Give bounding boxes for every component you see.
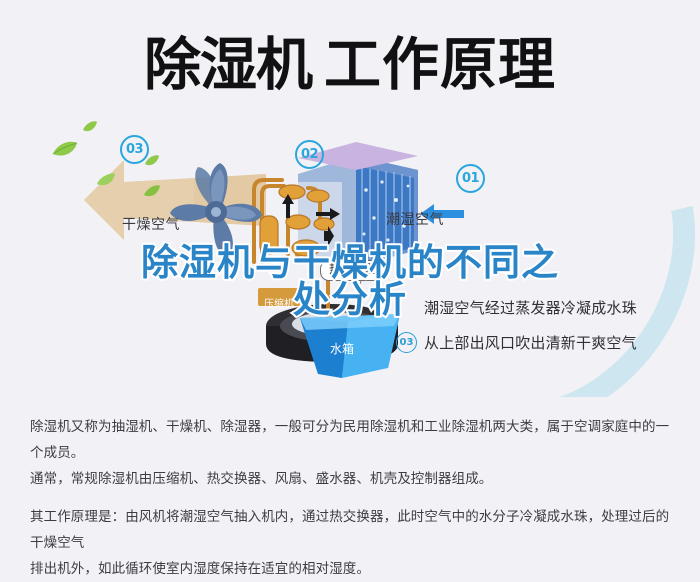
step-badge-03: 03 bbox=[396, 332, 417, 353]
body-paragraph-1-line-1: 除湿机又称为抽湿机、干燥机、除湿器，一般可分为民用除湿机和工业除湿机两大类，属于… bbox=[30, 415, 675, 467]
heat-exchanger-callout: 热交换器 bbox=[320, 260, 386, 281]
leaf-icon bbox=[52, 140, 78, 158]
label-water-tank: 水箱 bbox=[330, 340, 354, 357]
badge-02: 02 bbox=[295, 140, 324, 169]
badge-01: 01 bbox=[456, 164, 485, 193]
label-compressor: 压缩机 bbox=[264, 295, 294, 310]
leaf-icon bbox=[82, 120, 98, 133]
page-title-part2: 工作原理 bbox=[324, 32, 556, 98]
callout-tail-icon bbox=[352, 280, 362, 292]
body-paragraph-1-line-2: 通常，常规除湿机由压缩机、热交换器、风扇、盛水器、机壳及控制器组成。 bbox=[30, 467, 675, 493]
label-dry-air: 干燥空气 bbox=[122, 214, 180, 234]
body-copy: 除湿机又称为抽湿机、干燥机、除湿器，一般可分为民用除湿机和工业除湿机两大类，属于… bbox=[30, 415, 675, 582]
label-humid-air: 潮湿空气 bbox=[386, 209, 444, 229]
fan-icon bbox=[158, 157, 276, 269]
page-title-part1: 除湿机 bbox=[144, 32, 312, 98]
body-paragraph-2-line-2: 排出机外，如此循环使室内湿度保持在适宜的相对湿度。 bbox=[30, 557, 675, 582]
step-row: 02 潮湿空气经过蒸发器冷凝成水珠 bbox=[396, 296, 696, 318]
leaf-icon bbox=[96, 172, 116, 187]
badge-03: 03 bbox=[120, 135, 149, 164]
page-title: 除湿机工作原理 bbox=[144, 37, 556, 94]
step-row: 03 从上部出风口吹出清新干爽空气 bbox=[396, 331, 696, 353]
page-title-bar: 除湿机工作原理 bbox=[0, 26, 700, 104]
steps-list: 02 潮湿空气经过蒸发器冷凝成水珠 03 从上部出风口吹出清新干爽空气 bbox=[396, 296, 696, 366]
step-text-02: 潮湿空气经过蒸发器冷凝成水珠 bbox=[424, 297, 637, 318]
body-paragraph-2-line-1: 其工作原理是：由风机将潮湿空气抽入机内，通过热交换器，此时空气中的水分子冷凝成水… bbox=[30, 505, 675, 557]
step-text-03: 从上部出风口吹出清新干爽空气 bbox=[424, 332, 637, 353]
